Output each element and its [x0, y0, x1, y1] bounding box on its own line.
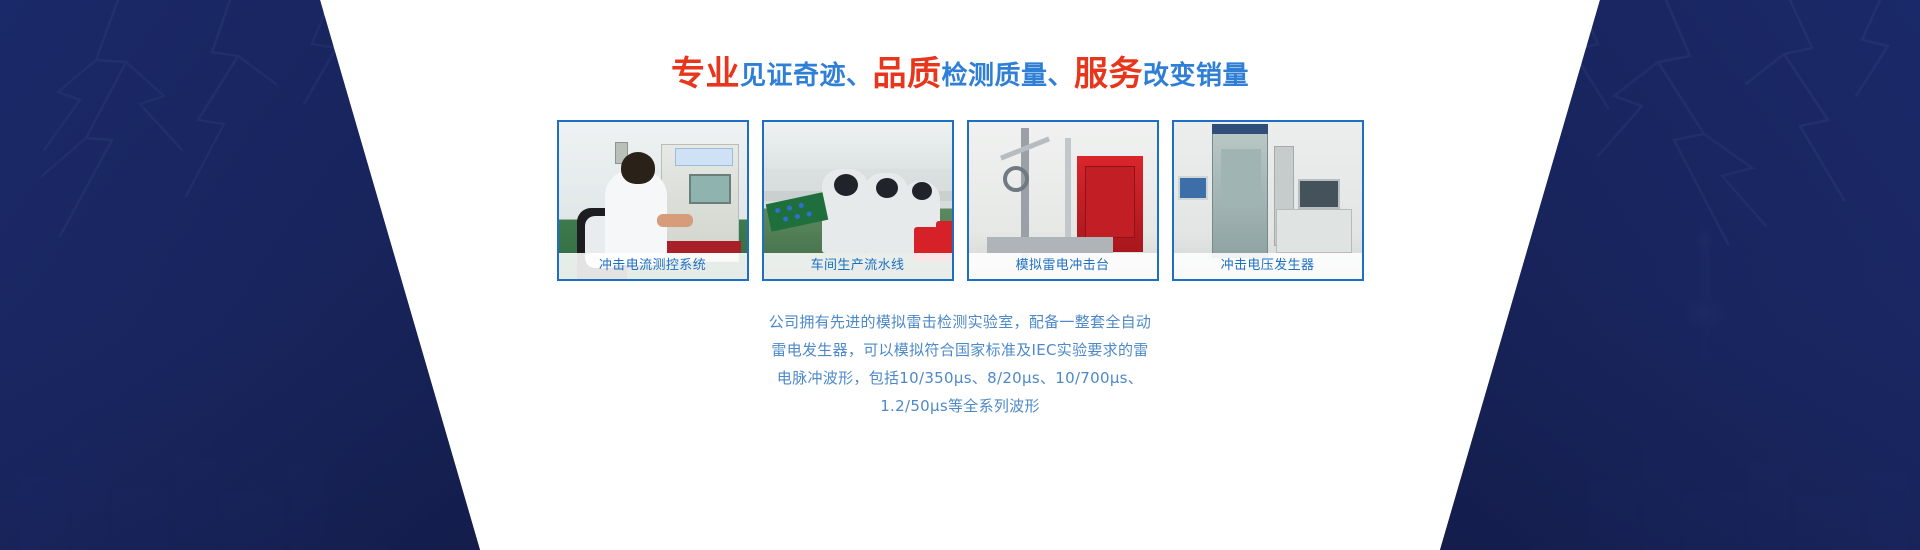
photo-caption-2: 车间生产流水线 — [764, 253, 952, 279]
photo-caption-4: 冲击电压发生器 — [1174, 253, 1362, 279]
description-line-4: 1.2/50μs等全系列波形 — [0, 392, 1920, 420]
page-title: 专业见证奇迹、品质检测质量、服务改变销量 — [0, 46, 1920, 95]
photo-gallery: 冲击电流测控系统 车间生产流水线 模拟雷电冲击台 — [0, 120, 1920, 281]
description-paragraph: 公司拥有先进的模拟雷击检测实验室，配备一整套全自动 雷电发生器，可以模拟符合国家… — [0, 308, 1920, 420]
gallery-item-3[interactable]: 模拟雷电冲击台 — [967, 120, 1159, 281]
headline-seg-0: 专业 — [671, 54, 740, 94]
headline-seg-4: 服务 — [1074, 54, 1143, 94]
gallery-item-2[interactable]: 车间生产流水线 — [762, 120, 954, 281]
gallery-item-4[interactable]: 冲击电压发生器 — [1172, 120, 1364, 281]
photo-caption-1: 冲击电流测控系统 — [559, 253, 747, 279]
description-line-3: 电脉冲波形，包括10/350μs、8/20μs、10/700μs、 — [0, 364, 1920, 392]
headline-seg-1: 见证奇迹、 — [740, 61, 873, 91]
promo-banner: 专业见证奇迹、品质检测质量、服务改变销量 冲击电流测控系统 — [0, 0, 1920, 550]
photo-caption-3: 模拟雷电冲击台 — [969, 253, 1157, 279]
headline-seg-2: 品质 — [872, 54, 941, 94]
description-line-2: 雷电发生器，可以模拟符合国家标准及IEC实验要求的雷 — [0, 336, 1920, 364]
gallery-item-1[interactable]: 冲击电流测控系统 — [557, 120, 749, 281]
headline-seg-5: 改变销量 — [1143, 61, 1249, 91]
description-line-1: 公司拥有先进的模拟雷击检测实验室，配备一整套全自动 — [0, 308, 1920, 336]
headline-seg-3: 检测质量、 — [941, 61, 1074, 91]
